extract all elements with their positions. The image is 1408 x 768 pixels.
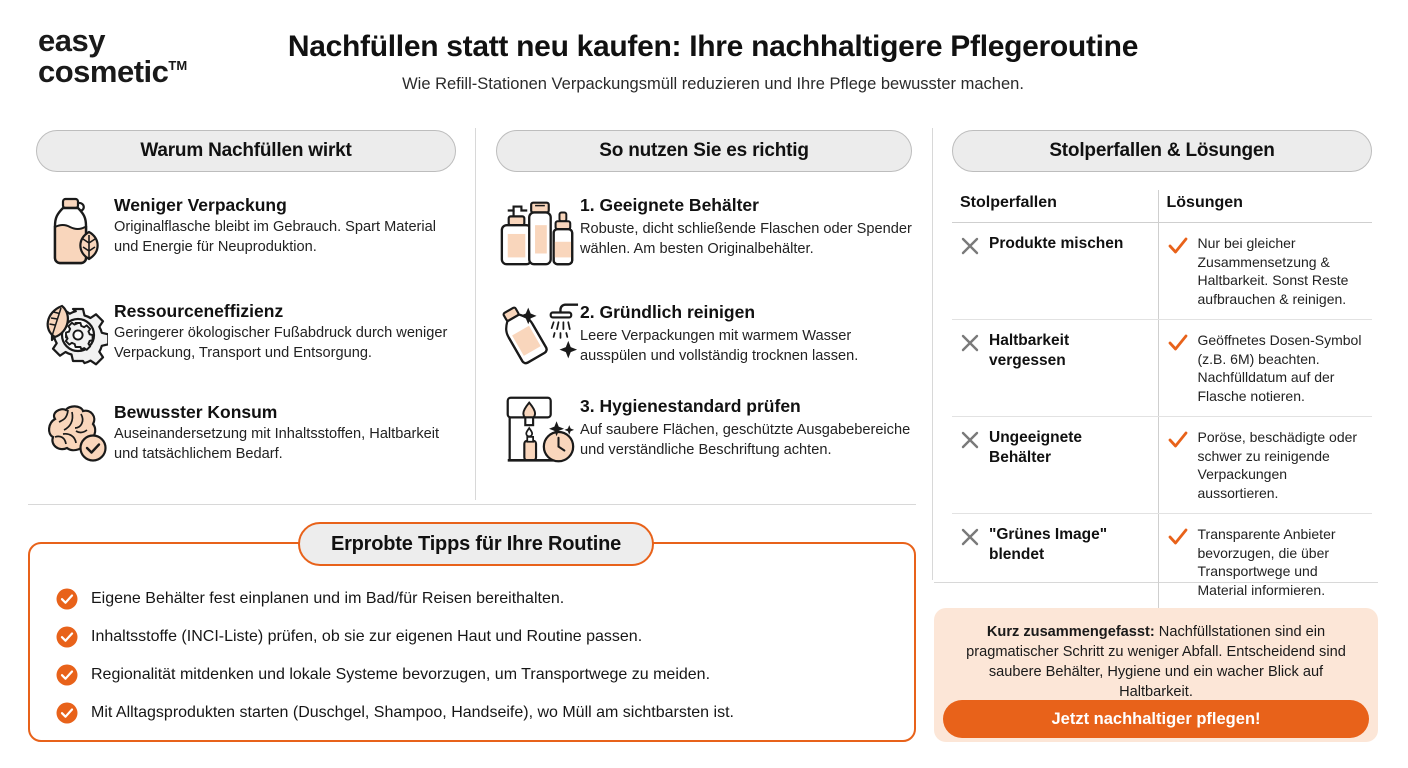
problem-cell: Produkte mischen [952, 223, 1158, 320]
solution-text: Nur bei gleicher Zusammensetzung & Haltb… [1198, 234, 1365, 308]
feature-body: Originalflasche bleibt im Gebrauch. Spar… [114, 218, 456, 257]
problem-cell: "Grünes Image" blendet [952, 514, 1158, 611]
section-divider [28, 504, 916, 505]
list-item: Inhaltsstoffe (INCI-Liste) prüfen, ob si… [56, 618, 914, 656]
list-item: Eigene Behälter fest einplanen und im Ba… [56, 580, 914, 618]
feature-item: Bewusster Konsum Auseinandersetzung mit … [36, 401, 456, 464]
bottle-leaf-icon [36, 194, 114, 268]
solution-text: Transparente Anbieter bevorzugen, die üb… [1198, 525, 1365, 599]
problem-cell: Ungeeignete Behälter [952, 417, 1158, 514]
three-bottles-icon [496, 194, 580, 270]
solution-text: Geöffnetes Dosen-Symbol (z.B. 6M) beacht… [1198, 331, 1365, 405]
check-circle-icon [56, 588, 78, 610]
feature-body: Geringerer ökologischer Fußabdruck durch… [114, 324, 456, 363]
brand-logo: easy cosmetic TM [38, 26, 248, 88]
solution-cell: Transparente Anbieter bevorzugen, die üb… [1158, 514, 1372, 611]
feature-item: Ressourceneffizienz Geringerer ökologisc… [36, 300, 456, 368]
brain-check-icon [36, 401, 114, 464]
section-heading-right: Stolperfallen & Lösungen [952, 130, 1372, 172]
column-so-nutzen-sie-es: So nutzen Sie es richtig [496, 130, 912, 467]
tip-text: Inhaltsstoffe (INCI-Liste) prüfen, ob si… [91, 627, 642, 647]
bottle-rinse-icon [496, 301, 580, 367]
problem-text: Ungeeignete Behälter [989, 428, 1129, 468]
step-title: 3. Hygienestandard prüfen [580, 395, 912, 418]
brand-line2: cosmetic [38, 56, 168, 88]
step-body: Auf saubere Flächen, geschützte Ausgabeb… [580, 421, 912, 460]
list-item: Regionalität mitdenken und lokale System… [56, 656, 914, 694]
step-title: 2. Gründlich reinigen [580, 301, 912, 324]
brand-line1: easy [38, 26, 248, 56]
step-item: 1. Geeignete Behälter Robuste, dicht sch… [496, 194, 912, 270]
tip-text: Regionalität mitdenken und lokale System… [91, 665, 710, 685]
check-circle-icon [56, 626, 78, 648]
table-row: Haltbarkeit vergessen Geöffnetes Dosen-S… [952, 320, 1372, 417]
tips-box: Erprobte Tipps für Ihre Routine Eigene B… [28, 542, 916, 742]
summary-text: Kurz zusammengefasst: Nachfüllstationen … [952, 622, 1360, 702]
page-title: Nachfüllen statt neu kaufen: Ihre nachha… [248, 28, 1178, 66]
check-icon [1167, 527, 1189, 547]
problem-text: Haltbarkeit vergessen [989, 331, 1129, 371]
check-circle-icon [56, 702, 78, 724]
section-heading-mid: So nutzen Sie es richtig [496, 130, 912, 172]
cross-icon [960, 236, 980, 256]
check-icon [1167, 236, 1189, 256]
solution-cell: Poröse, beschädigte oder schwer zu reini… [1158, 417, 1372, 514]
step-item: 3. Hygienestandard prüfen Auf saubere Fl… [496, 395, 912, 467]
feature-body: Auseinandersetzung mit Inhaltsstoffen, H… [114, 425, 456, 464]
problem-text: Produkte mischen [989, 234, 1123, 254]
tips-heading: Erprobte Tipps für Ihre Routine [298, 522, 654, 566]
step-item: 2. Gründlich reinigen Leere Verpackungen… [496, 301, 912, 367]
feature-title: Ressourceneffizienz [114, 300, 456, 322]
column-divider-1 [475, 128, 476, 500]
section-heading-left: Warum Nachfüllen wirkt [36, 130, 456, 172]
table-row: "Grünes Image" blendet Transparente Anbi… [952, 514, 1372, 611]
step-body: Robuste, dicht schließende Flaschen oder… [580, 220, 912, 259]
leaf-gear-icon [36, 300, 114, 368]
summary-label: Kurz zusammengefasst: [987, 624, 1155, 640]
table-header-row: Stolperfallen Lösungen [952, 190, 1372, 223]
feature-item: Weniger Verpackung Originalflasche bleib… [36, 194, 456, 268]
header: easy cosmetic TM Nachfüllen statt neu ka… [0, 0, 1408, 112]
step-body: Leere Verpackungen mit warmem Wasser aus… [580, 327, 912, 366]
list-item: Mit Alltagsprodukten starten (Duschgel, … [56, 694, 914, 732]
feature-title: Bewusster Konsum [114, 401, 456, 423]
problem-cell: Haltbarkeit vergessen [952, 320, 1158, 417]
problem-text: "Grünes Image" blendet [989, 525, 1129, 565]
table-row: Ungeeignete Behälter Poröse, beschädigte… [952, 417, 1372, 514]
column-stolperfallen: Stolperfallen & Lösungen Stolperfallen L… [952, 130, 1372, 610]
table-row: Produkte mischen Nur bei gleicher Zusamm… [952, 223, 1372, 320]
tip-text: Eigene Behälter fest einplanen und im Ba… [91, 589, 564, 609]
feature-title: Weniger Verpackung [114, 194, 456, 216]
tip-text: Mit Alltagsprodukten starten (Duschgel, … [91, 703, 734, 723]
cross-icon [960, 430, 980, 450]
check-icon [1167, 430, 1189, 450]
cross-icon [960, 527, 980, 547]
brand-trademark: TM [168, 58, 187, 73]
column-header-solutions: Lösungen [1158, 190, 1372, 223]
column-warum-nachfuellen: Warum Nachfüllen wirkt Weniger Verpackun… [36, 130, 456, 464]
problems-solutions-table: Stolperfallen Lösungen Produkte mischen [952, 190, 1372, 610]
solution-text: Poröse, beschädigte oder schwer zu reini… [1198, 428, 1365, 502]
cta-button[interactable]: Jetzt nachhaltiger pflegen! [943, 700, 1369, 738]
check-circle-icon [56, 664, 78, 686]
page-subtitle: Wie Refill-Stationen Verpackungsmüll red… [248, 73, 1178, 95]
check-icon [1167, 333, 1189, 353]
solution-cell: Geöffnetes Dosen-Symbol (z.B. 6M) beacht… [1158, 320, 1372, 417]
solution-cell: Nur bei gleicher Zusammensetzung & Haltb… [1158, 223, 1372, 320]
dispenser-clock-icon [496, 395, 580, 467]
infographic-page: easy cosmetic TM Nachfüllen statt neu ka… [0, 0, 1408, 768]
column-divider-2 [932, 128, 933, 580]
column-header-problems: Stolperfallen [952, 190, 1158, 223]
cross-icon [960, 333, 980, 353]
tips-list: Eigene Behälter fest einplanen und im Ba… [30, 544, 914, 732]
step-title: 1. Geeignete Behälter [580, 194, 912, 217]
